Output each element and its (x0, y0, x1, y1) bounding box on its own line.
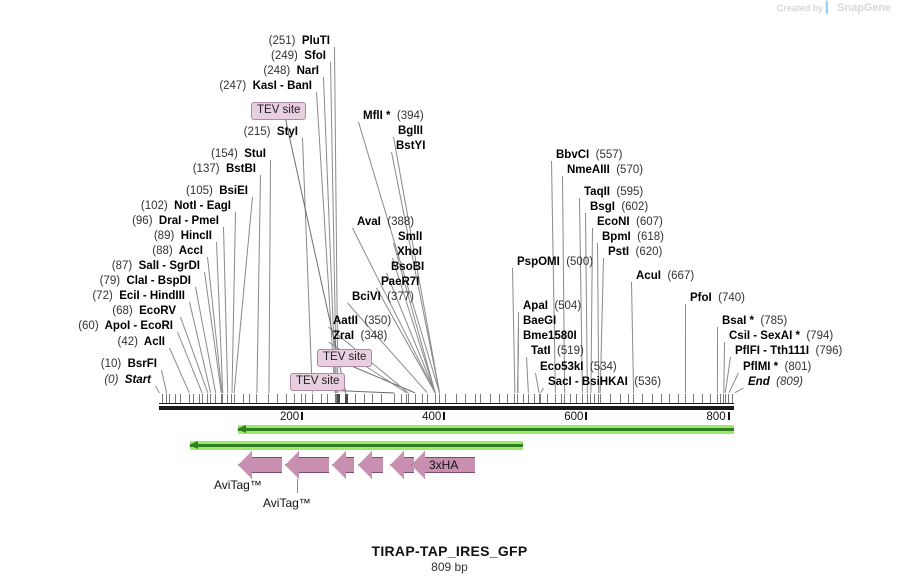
ruler-hash (620, 394, 621, 403)
enzyme-label-notI: (102) NotI - EagI (0, 200, 231, 212)
enzyme-label-xhoI: XhoI (397, 246, 422, 258)
ruler-hash (642, 394, 643, 403)
ruler-hash (162, 394, 163, 403)
ruler-hash (669, 394, 670, 403)
ruler-tick (585, 412, 587, 420)
ruler-hash (406, 394, 407, 403)
enzyme-label-pstI: PstI (620) (608, 246, 662, 258)
orf-line (190, 444, 523, 447)
enzyme-label-bglII: BglII (398, 125, 423, 137)
enzyme-label-kasI: (247) KasI - BanI (0, 80, 312, 92)
enzyme-label-acuI: AcuI (667) (636, 270, 694, 282)
ruler-hash (169, 394, 170, 403)
ruler-hash (587, 394, 588, 403)
ruler-hash (345, 394, 348, 403)
feature-arrowhead-icon (332, 451, 346, 479)
tev-site-label-3[interactable]: TEV site (290, 373, 345, 391)
ruler-hash (202, 394, 203, 403)
feature-arrowhead-icon (238, 451, 252, 479)
ruler-hash (590, 394, 591, 403)
enzyme-label-hincII: (89) HincII (0, 230, 212, 242)
ruler-tick-label-200: 200 (273, 411, 299, 423)
ruler-hash (312, 394, 313, 403)
ruler-hash (401, 394, 402, 403)
feature-body (345, 457, 354, 473)
ruler-hash (422, 394, 423, 403)
enzyme-label-ecoNI: EcoNI (607) (597, 216, 663, 228)
enzyme-label-paeR7I: PaeR7I (381, 276, 419, 288)
ruler-hash (215, 394, 216, 403)
ruler-tick (728, 412, 730, 420)
ruler-hash (456, 394, 457, 403)
ruler-hash (514, 394, 515, 403)
ruler-hash (364, 394, 365, 403)
feature-arrow-feat-3[interactable] (332, 451, 354, 479)
enzyme-label-start: (0) Start (0, 374, 151, 386)
ruler-tick (301, 412, 303, 420)
ruler-hash (507, 394, 508, 403)
enzyme-label-draI: (96) DraI - PmeI (0, 215, 219, 227)
ruler-hash (570, 394, 571, 403)
ruler-hash (661, 394, 662, 403)
ruler-hash (720, 394, 721, 403)
ruler-hash (435, 394, 436, 403)
enzyme-label-ecoRV: (68) EcoRV (0, 305, 176, 317)
ruler-hash (301, 394, 302, 403)
ruler-hash (294, 394, 295, 403)
ruler-hash (523, 394, 524, 403)
enzyme-label-accI: (88) AccI (0, 245, 203, 257)
enzyme-label-claI: (79) ClaI - BspDI (0, 275, 191, 287)
leader-line-styI (302, 138, 313, 393)
feature-arrow-feat-2[interactable] (285, 451, 329, 479)
enzyme-label-apaI: ApaI (504) (523, 300, 581, 312)
enzyme-label-bsoBI: BsoBI (391, 261, 424, 273)
ruler-hash (394, 394, 395, 403)
ruler-hash (728, 394, 729, 403)
leader-line-bstBI (256, 175, 261, 393)
ruler-tick-label-400: 400 (415, 411, 441, 423)
enzyme-label-pflFI: PflFI - Tth111I (796) (735, 345, 842, 357)
ruler-hash (381, 394, 382, 403)
feature-body (298, 457, 329, 473)
ruler-hash (210, 394, 211, 403)
ruler-hash (678, 394, 679, 403)
tev-site-label-2[interactable]: TEV site (317, 349, 372, 367)
feature-label-avitag-2: AviTag™ (263, 496, 311, 510)
feature-arrow-feat-6[interactable]: 3xHA (411, 451, 475, 479)
ruler-hash (561, 394, 562, 403)
orf-line (238, 428, 734, 431)
ruler-hash (231, 394, 232, 403)
ruler-hash (555, 394, 556, 403)
enzyme-label-apoI: (60) ApoI - EcoRI (0, 320, 173, 332)
ruler-hash (337, 394, 340, 403)
snapgene-sequence-map: Created by ▎ SnapGene (251) PluTI(249) S… (0, 0, 899, 583)
ruler-hash (321, 394, 322, 403)
enzyme-label-sacI: SacI - BsiHKAI (536) (548, 376, 661, 388)
enzyme-label-nmeAIII: NmeAIII (570) (567, 164, 643, 176)
leader-line-end (734, 388, 743, 394)
ruler-hash (534, 394, 535, 403)
enzyme-label-smlI: SmlI (398, 231, 422, 243)
ruler-hash (598, 394, 599, 403)
enzyme-label-csiI: CsiI - SexAI * (794) (729, 330, 833, 342)
feature-arrowhead-icon (285, 451, 299, 479)
ruler-hash (564, 394, 565, 403)
ruler-hash (710, 394, 711, 403)
leader-line-pfoI (685, 304, 686, 393)
sequence-length: 809 bp (0, 560, 899, 574)
ruler-hash (480, 394, 481, 403)
feature-body (371, 457, 383, 473)
ruler-hash (243, 394, 244, 403)
ruler-hash (408, 394, 409, 403)
enzyme-label-mflI: MflI * (394) (363, 110, 424, 122)
ruler-hash (652, 394, 653, 403)
enzyme-label-pspOMI: PspOMI (500) (517, 256, 593, 268)
ruler-hash (693, 394, 694, 403)
enzyme-label-bstBI: (137) BstBI (0, 163, 256, 175)
ruler-hash (633, 394, 634, 403)
ruler-hash (723, 394, 724, 403)
ruler-hash (439, 394, 440, 403)
ruler-hash (199, 394, 200, 403)
leader-line-bsiEI (234, 197, 253, 393)
enzyme-label-avaI: AvaI (388) (357, 216, 414, 228)
ruler-hash (305, 394, 306, 403)
ruler-hash (475, 394, 476, 403)
ruler-hash (547, 394, 548, 403)
ruler-tick (443, 412, 445, 420)
enzyme-label-bme1580I: Bme1580I (523, 330, 577, 342)
feature-arrowhead-icon (358, 451, 372, 479)
ruler-hash (427, 394, 428, 403)
leader-line-start (155, 386, 160, 393)
ruler-bar (159, 406, 734, 410)
ruler-hash (725, 394, 726, 403)
enzyme-label-bsgI: BsgI (602) (590, 201, 648, 213)
page-title: TIRAP-TAP_IRES_GFP (0, 543, 899, 559)
ruler-hash (268, 394, 269, 403)
leader-line-bsaI (717, 327, 718, 393)
enzyme-label-tatI: TatI (519) (531, 345, 584, 357)
leader-line-draI (223, 227, 228, 393)
enzyme-label-aclI: (42) AclI (0, 336, 165, 348)
orf-arrowhead-icon (189, 441, 198, 449)
ruler-hash (685, 394, 686, 403)
ruler-hash (702, 394, 703, 403)
ruler-hash (465, 394, 466, 403)
leader-line-bbvCI (551, 161, 556, 393)
enzyme-label-bbvCI: BbvCI (557) (556, 149, 622, 161)
orf-arrow-orf-2[interactable] (190, 441, 523, 450)
snapgene-watermark: Created by ▎ SnapGene (777, 2, 891, 14)
feature-arrowhead-icon (390, 451, 404, 479)
tev-site-label-1[interactable]: TEV site (251, 102, 306, 120)
ruler-hash (717, 394, 718, 403)
enzyme-label-plutI: (251) PluTI (0, 35, 330, 47)
ruler-hash (277, 394, 278, 403)
leader-line-tatI (526, 357, 529, 393)
leader-line-bme1580I (517, 342, 519, 393)
leader-line-bsrFI (161, 370, 167, 393)
orf-arrow-orf-1[interactable] (238, 425, 734, 434)
enzyme-label-eciI: (72) EciI - HindIII (0, 290, 185, 302)
ruler-hash (528, 394, 529, 403)
enzyme-label-bciVI: BciVI (377) (352, 291, 414, 303)
feature-arrow-label: 3xHA (429, 457, 458, 473)
enzyme-label-bstYI: BstYI (396, 140, 425, 152)
ruler-hash (582, 394, 583, 403)
ruler-hash (222, 394, 223, 403)
ruler-hash (189, 394, 190, 403)
feature-arrow-feat-4[interactable] (358, 451, 383, 479)
ruler-hash (490, 394, 491, 403)
enzyme-label-baeGI: BaeGI (523, 315, 556, 327)
ruler-hash (249, 394, 250, 403)
snapgene-logo-icon: ▎ (826, 3, 834, 14)
enzyme-label-bsaI: BsaI * (785) (722, 315, 787, 327)
ruler-hash (227, 394, 228, 403)
enzyme-label-aatII: AatII (350) (333, 315, 391, 327)
ruler-hash (600, 394, 601, 403)
watermark-brand: SnapGene (837, 2, 891, 14)
ruler-hash (628, 394, 629, 403)
ruler-hash (175, 394, 176, 403)
ruler-hash (594, 394, 595, 403)
ruler-hash (415, 394, 416, 403)
ruler-hash (234, 394, 235, 403)
enzyme-label-end: End (809) (748, 376, 803, 388)
ruler-hash (207, 394, 208, 403)
feature-arrowhead-icon (411, 451, 425, 479)
ruler-hash (445, 394, 446, 403)
ruler-hash (540, 394, 541, 403)
watermark-created-by: Created by (777, 3, 823, 13)
ruler-hash (256, 394, 257, 403)
ruler-hash (732, 394, 733, 403)
feature-label-avitag-1: AviTag™ (214, 478, 262, 492)
orf-arrowhead-icon (237, 425, 246, 433)
ruler-hash (180, 394, 181, 403)
ruler-hash (286, 394, 287, 403)
enzyme-label-zraI: ZraI (348) (333, 330, 387, 342)
ruler-hash (193, 394, 194, 403)
ruler-hash (355, 394, 356, 403)
leader-line-avitag-2 (297, 479, 298, 493)
enzyme-label-stuI: (154) StuI (0, 148, 266, 160)
feature-arrow-feat-1[interactable] (238, 451, 282, 479)
enzyme-label-taqII: TaqII (595) (584, 186, 643, 198)
enzyme-label-bsiEI: (105) BsiEI (0, 185, 248, 197)
enzyme-label-narI: (248) NarI (0, 65, 319, 77)
ruler-hash (327, 394, 328, 403)
enzyme-label-pflMI: PflMI * (801) (743, 361, 811, 373)
ruler-hash (576, 394, 577, 403)
enzyme-label-bsrFI: (10) BsrFI (0, 358, 157, 370)
leader-line-stuI (268, 160, 271, 393)
enzyme-label-sfoI: (249) SfoI (0, 50, 326, 62)
ruler-top-line (159, 403, 734, 404)
leader-line-pspOMI (512, 268, 515, 393)
enzyme-label-pfoI: PfoI (740) (690, 292, 745, 304)
ruler-hash (610, 394, 611, 403)
ruler-tick-label-800: 800 (700, 411, 726, 423)
leader-line-sacI (540, 388, 544, 394)
enzyme-label-salI: (87) SalI - SgrDI (0, 260, 200, 272)
ruler-tick-label-600: 600 (557, 411, 583, 423)
ruler-hash (372, 394, 373, 403)
leader-line-eco53kI (535, 373, 540, 393)
enzyme-label-bpmI: BpmI (618) (602, 231, 664, 243)
ruler-hash (499, 394, 500, 403)
ruler-hash (166, 394, 167, 403)
enzyme-label-eco53kI: Eco53kI (534) (540, 361, 617, 373)
enzyme-label-styI: (215) StyI (0, 126, 298, 138)
feature-body (251, 457, 282, 473)
ruler-hash (517, 394, 518, 403)
